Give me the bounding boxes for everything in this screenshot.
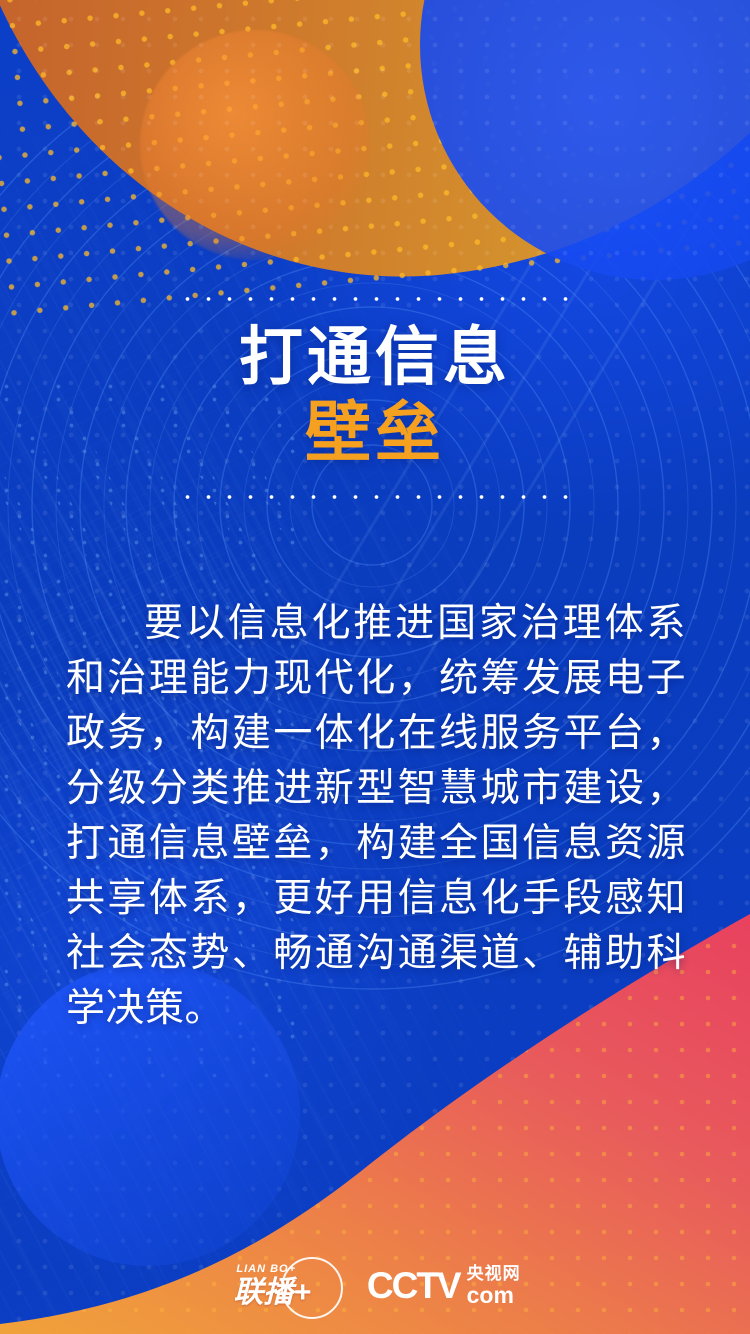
cctv-chinese-name: 央视网 bbox=[467, 1265, 521, 1282]
title-line-1: 打通信息 bbox=[0, 324, 750, 392]
cctv-domain: com bbox=[467, 1284, 514, 1307]
lianbo-ring-icon bbox=[281, 1257, 343, 1319]
title-line-2: 壁垒 bbox=[0, 398, 750, 468]
poster-root: 打通信息 壁垒 要以信息化推进国家治理体系和治理能力现代化，统筹发展电子政务，构… bbox=[0, 0, 750, 1334]
dotted-rule-top-icon bbox=[175, 296, 575, 302]
dotted-rule-bottom-icon bbox=[175, 494, 575, 500]
lianbo-logo: LIAN BO+ 联播+ bbox=[229, 1260, 341, 1312]
footer-logos: LIAN BO+ 联播+ CCTV 央视网 com bbox=[0, 1260, 750, 1312]
cctv-logo-right: 央视网 com bbox=[467, 1265, 521, 1307]
cctv-wordmark: CCTV bbox=[367, 1267, 460, 1304]
body-paragraph: 要以信息化推进国家治理体系和治理能力现代化，统筹发展电子政务，构建一体化在线服务… bbox=[66, 596, 686, 1036]
title-block: 打通信息 壁垒 bbox=[0, 296, 750, 500]
cctv-logo: CCTV 央视网 com bbox=[367, 1265, 521, 1307]
